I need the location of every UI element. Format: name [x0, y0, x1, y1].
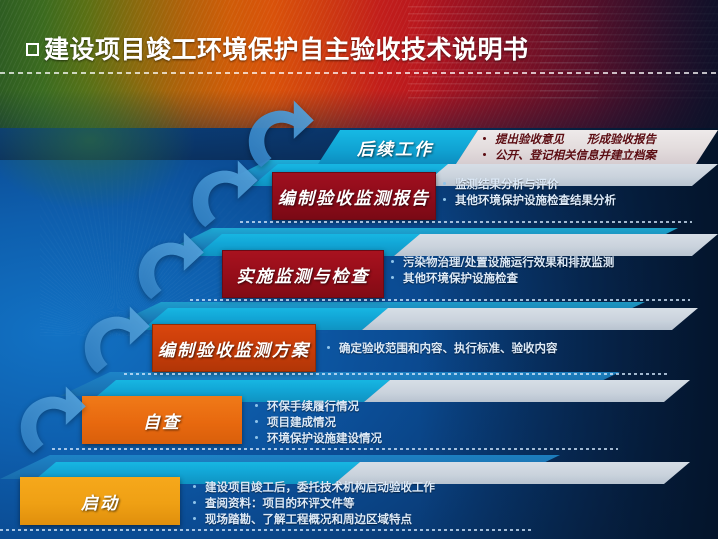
list-item: 现场踏勘、了解工程概况和周边区域特点	[192, 511, 435, 527]
step-label-block[interactable]: 编制验收监测报告	[272, 172, 436, 220]
step-bullet-list: 建设项目竣工后，委托技术机构启动验收工作 查阅资料：项目的环评文件等 现场踏勘、…	[192, 479, 435, 527]
step-label-block[interactable]: 实施监测与检查	[222, 250, 384, 298]
step-bullet-list: 环保手续履行情况 项目建成情况 环境保护设施建设情况	[254, 398, 382, 446]
curved-arrow-up-right-icon-4	[78, 302, 152, 376]
list-item: 建设项目竣工后，委托技术机构启动验收工作	[192, 479, 435, 495]
staircase-diagram: 启动 建设项目竣工后，委托技术机构启动验收工作 查阅资料：项目的环评文件等 现场…	[0, 0, 718, 539]
step-label: 编制验收监测报告	[278, 184, 430, 209]
curved-arrow-up-right-icon-1	[242, 96, 316, 170]
step-label-block[interactable]: 启动	[20, 477, 180, 525]
list-item: 项目建成情况	[254, 414, 382, 430]
step-divider	[0, 529, 532, 531]
list-item: 查阅资料：项目的环评文件等	[192, 495, 435, 511]
step-divider	[240, 221, 692, 223]
list-item: 监测结果分析与评价	[442, 176, 616, 192]
step-label: 后续工作	[357, 135, 433, 160]
list-item: 公开、登记相关信息并建立档案	[482, 147, 656, 163]
step-bullet-list: 监测结果分析与评价 其他环境保护设施检查结果分析	[442, 176, 616, 208]
list-item: 环境保护设施建设情况	[254, 430, 382, 446]
list-item: 环保手续履行情况	[254, 398, 382, 414]
step-label: 启动	[81, 489, 119, 514]
list-item: 提出验收意见 形成验收报告	[482, 131, 656, 147]
step-label-block[interactable]: 编制验收监测方案	[152, 324, 316, 372]
step-divider	[124, 373, 670, 375]
step-label-block[interactable]: 自查	[82, 396, 242, 444]
step-label-block[interactable]: 后续工作	[318, 130, 478, 164]
list-item: 其他环境保护设施检查结果分析	[442, 192, 616, 208]
step-label: 实施监测与检查	[237, 262, 370, 287]
step-label: 自查	[143, 408, 181, 433]
step-divider	[190, 299, 690, 301]
step-bullet-list: 污染物治理/处置设施运行效果和排放监测 其他环境保护设施检查	[390, 254, 614, 286]
slide-canvas: 建设项目竣工环境保护自主验收技术说明书 启动 建设项目竣工后，委托技术机构启动验…	[0, 0, 718, 539]
list-item: 污染物治理/处置设施运行效果和排放监测	[390, 254, 614, 270]
step-divider	[52, 448, 618, 450]
curved-arrow-up-right-icon-5	[14, 382, 88, 456]
step-bullet-list: 提出验收意见 形成验收报告 公开、登记相关信息并建立档案	[482, 131, 656, 163]
curved-arrow-up-right-icon-3	[132, 228, 206, 302]
step-bullet-list: 确定验收范围和内容、执行标准、验收内容	[326, 340, 558, 356]
list-item: 确定验收范围和内容、执行标准、验收内容	[326, 340, 558, 356]
list-item: 其他环境保护设施检查	[390, 270, 614, 286]
step-label: 编制验收监测方案	[158, 336, 310, 361]
